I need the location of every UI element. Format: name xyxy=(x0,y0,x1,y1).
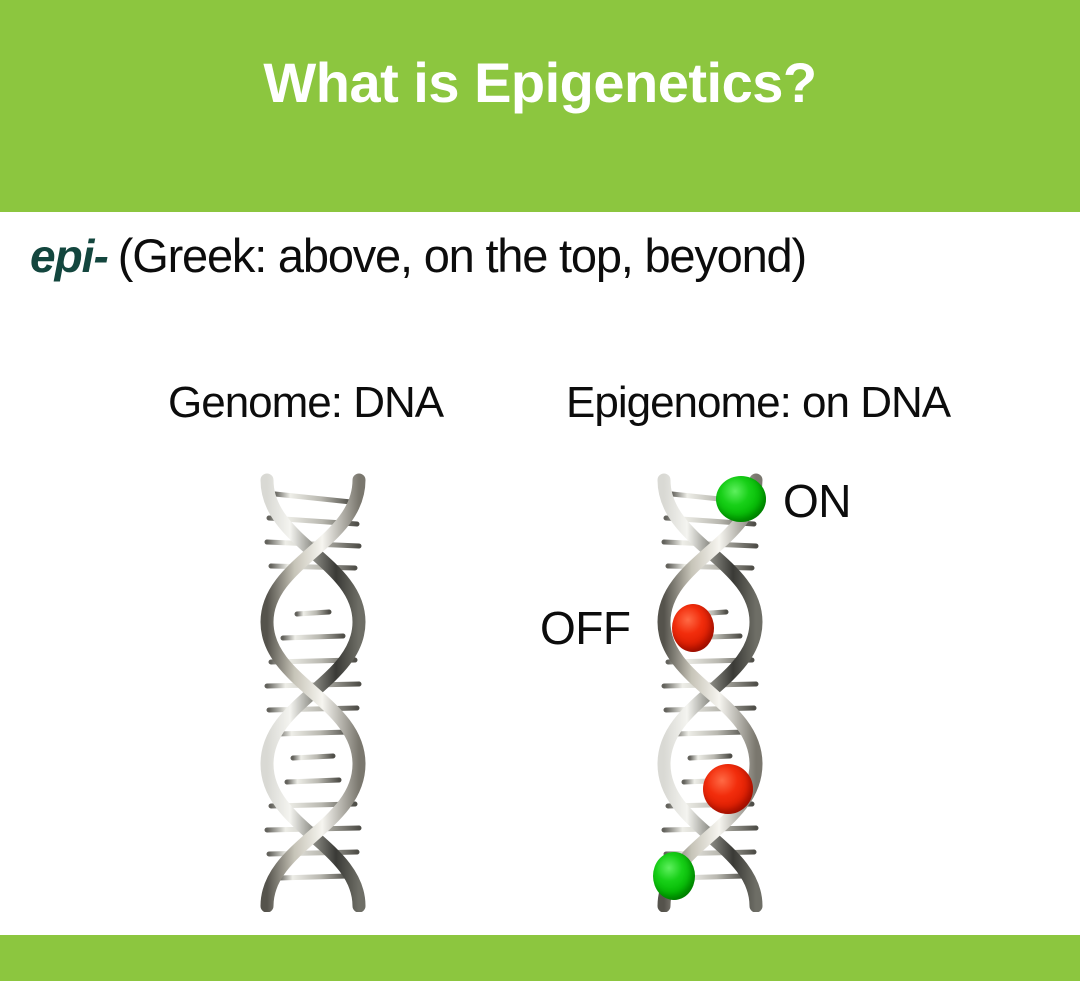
footer-band xyxy=(0,935,1080,981)
dna-helix-genome xyxy=(253,472,373,912)
label-on: ON xyxy=(783,474,851,528)
dna-helix-epigenome xyxy=(650,472,770,912)
label-off: OFF xyxy=(540,601,630,655)
greek-definition-text: (Greek: above, on the top, beyond) xyxy=(118,229,806,282)
page-title: What is Epigenetics? xyxy=(0,52,1080,114)
epigenetic-marker-on-bottom xyxy=(653,852,695,900)
definition-line: epi-(Greek: above, on the top, beyond) xyxy=(30,232,1060,279)
epigenetic-marker-off-upper xyxy=(672,604,714,652)
epigenetic-marker-off-lower xyxy=(703,764,753,814)
heading-genome: Genome: DNA xyxy=(168,378,443,428)
heading-epigenome: Epigenome: on DNA xyxy=(566,378,950,428)
epi-prefix-text: epi- xyxy=(30,230,108,282)
epigenetic-marker-on-top xyxy=(716,476,766,522)
